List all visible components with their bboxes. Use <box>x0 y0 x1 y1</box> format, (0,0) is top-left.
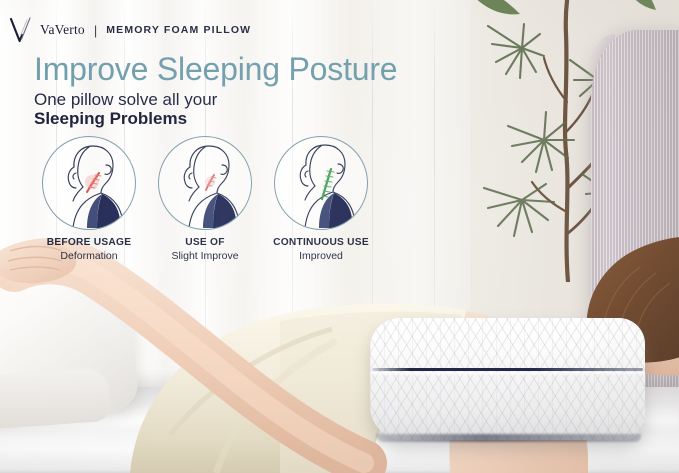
brand-name: VaVerto <box>40 22 85 38</box>
feature-title: BEFORE USAGE <box>47 237 132 248</box>
woman-profile-neck-aligned-icon <box>274 136 368 230</box>
feature-row: BEFORE USAGE Deformation <box>35 136 375 264</box>
feature-caption: Slight Improve <box>171 250 238 262</box>
vaverto-v-monogram-icon <box>10 17 32 43</box>
feature-use-of: USE OF Slight Improve <box>151 136 259 264</box>
page-title: Improve Sleeping Posture <box>34 50 397 88</box>
feature-caption: Improved <box>299 250 343 262</box>
brand-separator: | <box>94 23 97 38</box>
woman-profile-neck-strain-icon <box>42 136 136 230</box>
subtitle-line-1: One pillow solve all your <box>34 90 217 110</box>
brand-logo: VaVerto | MEMORY FOAM PILLOW <box>10 16 251 44</box>
woman-profile-neck-partial-icon <box>158 136 252 230</box>
feature-before-usage: BEFORE USAGE Deformation <box>35 136 143 264</box>
feature-caption: Deformation <box>60 250 117 262</box>
feature-title: CONTINUOUS USE <box>273 237 369 248</box>
feature-title: USE OF <box>185 237 224 248</box>
subtitle-line-2: Sleeping Problems <box>34 109 187 129</box>
product-infographic: VaVerto | MEMORY FOAM PILLOW Improve Sle… <box>0 0 679 473</box>
feature-continuous-use: CONTINUOUS USE Improved <box>267 136 375 264</box>
memory-foam-pillow-icon <box>370 318 645 440</box>
brand-tagline: MEMORY FOAM PILLOW <box>106 24 251 36</box>
